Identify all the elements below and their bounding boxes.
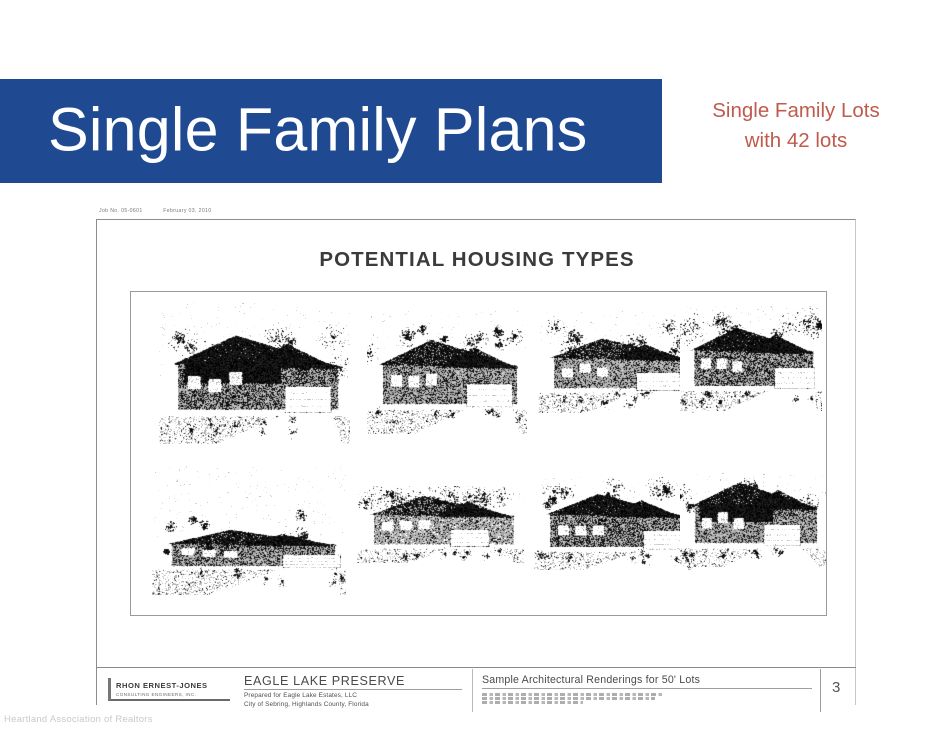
house-photo [680,305,822,412]
page-title: Single Family Plans [48,95,587,165]
sheet-heading: POTENTIAL HOUSING TYPES [96,248,858,272]
sheet-title: Sample Architectural Renderings for 50' … [482,674,812,686]
logo-underline [108,699,230,701]
scanned-plan-sheet: Job No. 05-0601 February 03, 2010 POTENT… [96,212,858,712]
project-location-line: City of Sebring, Highlands County, Flori… [244,701,462,708]
house-photo [680,473,826,567]
sheet-job-number: Job No. 05-0601 [99,208,143,214]
house-photo [357,486,524,564]
project-title: EAGLE LAKE PRESERVE [244,674,462,688]
house-photo [367,311,527,434]
photo-row-top [131,292,826,454]
title-block-divider [472,669,473,712]
disclaimer-fine-print [482,693,662,704]
house-photo [159,302,350,444]
fine-print-line [482,697,655,700]
firm-subtitle: CONSULTING ENGINEERS, INC. [116,692,230,697]
drawing-title-block: RHON ERNEST-JONES CONSULTING ENGINEERS, … [96,667,856,712]
title-block-divider [820,669,821,712]
slide-subtitle: Single Family Lots with 42 lots [668,96,924,156]
title-block-top-rule [96,667,856,668]
house-photo [538,310,698,413]
house-photo [534,476,694,570]
sheet-title-underline [482,688,812,689]
project-title-underline [244,689,462,690]
photo-grid-frame [130,291,827,616]
logo-accent-bar [108,678,111,700]
sheet-page-number: 3 [832,679,840,696]
subtitle-line-2: with 42 lots [668,126,924,156]
project-info: EAGLE LAKE PRESERVE Prepared for Eagle L… [244,674,462,708]
footer-credit: Heartland Association of Realtors [4,714,153,725]
photo-row-bottom [131,454,826,616]
fine-print-line [482,701,583,704]
sheet-header: Job No. 05-0601 February 03, 2010 [99,208,212,214]
firm-name: RHON ERNEST-JONES [116,681,230,690]
project-client-line: Prepared for Eagle Lake Estates, LLC [244,692,462,699]
slide-title-banner: Single Family Plans [0,79,662,183]
sheet-title-cell: Sample Architectural Renderings for 50' … [482,674,812,706]
house-photo [152,466,347,595]
sheet-date: February 03, 2010 [163,208,211,214]
fine-print-line [482,693,662,696]
engineering-firm-logo: RHON ERNEST-JONES CONSULTING ENGINEERS, … [108,681,230,701]
subtitle-line-1: Single Family Lots [668,96,924,126]
